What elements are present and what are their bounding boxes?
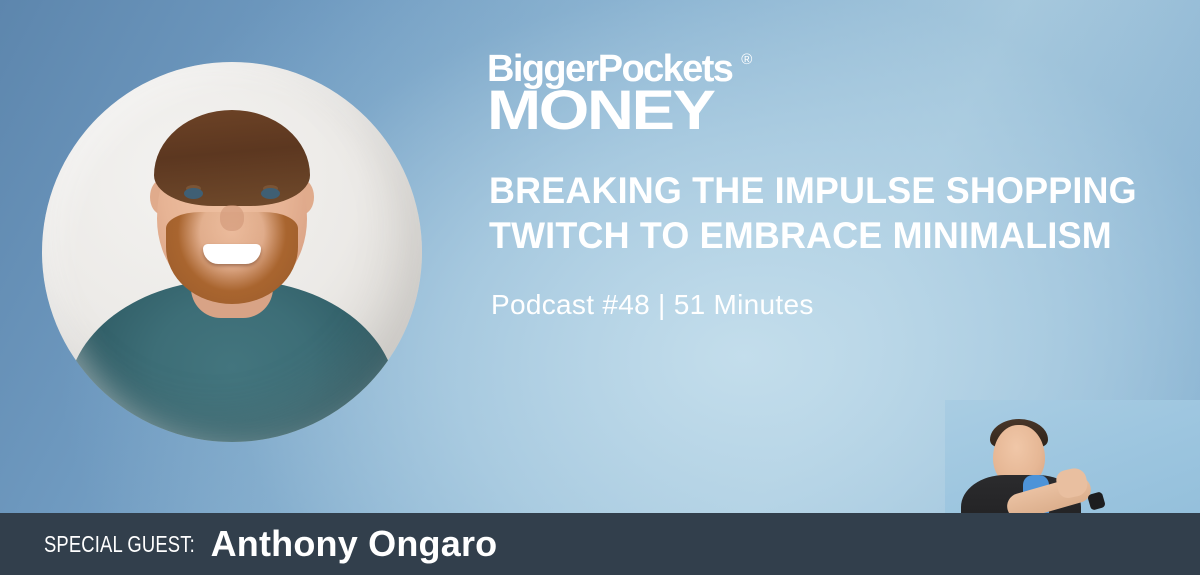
host-female-watch [1087,491,1106,511]
guest-portrait-photo [42,62,422,442]
episode-meta: Podcast #48 | 51 Minutes [491,289,814,321]
guest-banner: Special Guest: Anthony Ongaro [0,513,1200,575]
guest-banner-content: Special Guest: Anthony Ongaro [44,513,497,575]
registered-trademark-icon: ® [741,52,752,67]
portrait-vignette [42,62,422,442]
logo-wordmark-money: MONEY [487,82,772,138]
podcast-episode-graphic: BiggerPockets ® MONEY Breaking the Impul… [0,0,1200,575]
special-guest-label: Special Guest: [44,531,195,558]
biggerpockets-money-logo: BiggerPockets ® MONEY [487,50,732,138]
episode-title: Breaking the Impulse Shopping Twitch to … [489,168,1149,258]
guest-name: Anthony Ongaro [211,523,498,565]
